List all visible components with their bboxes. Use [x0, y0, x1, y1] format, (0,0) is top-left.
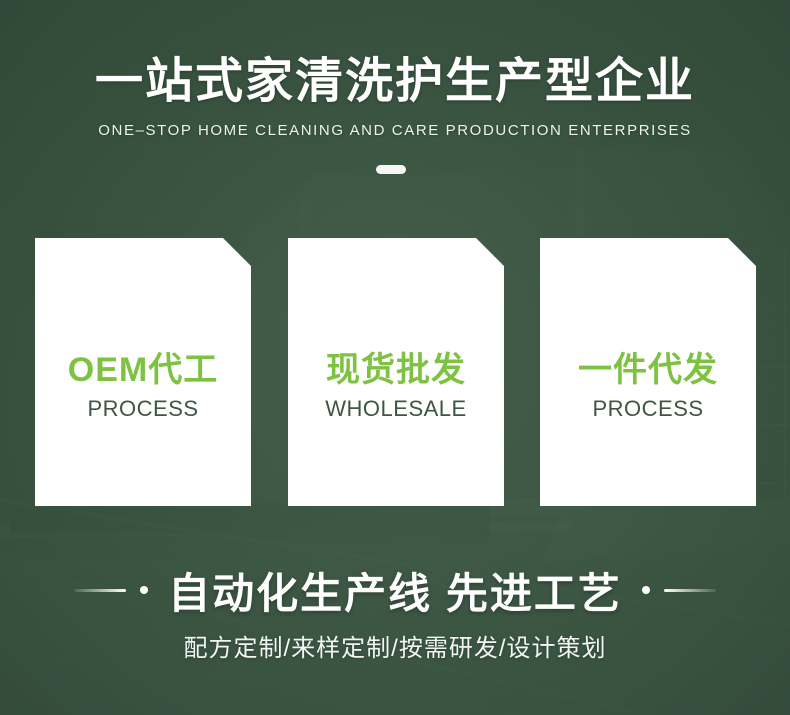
service-card-dropship[interactable]: 一件代发 PROCESS [540, 238, 756, 506]
dot-right-icon [642, 586, 650, 594]
dot-left-icon [140, 586, 148, 594]
service-card-wholesale[interactable]: 现货批发 WHOLESALE [288, 238, 504, 506]
footer-title: 自动化生产线 先进工艺 [162, 560, 628, 621]
service-card-subtitle: PROCESS [540, 396, 756, 422]
footer-heading-row: 自动化生产线 先进工艺 [0, 560, 790, 620]
hero-subtitle: ONE–STOP HOME CLEANING AND CARE PRODUCTI… [0, 122, 790, 139]
dash-right-icon [664, 589, 716, 592]
hero-title: 一站式家清洗护生产型企业 [0, 58, 790, 106]
service-card-subtitle: WHOLESALE [288, 396, 504, 422]
service-card-title: 一件代发 [540, 342, 756, 391]
footer-subtitle: 配方定制/来样定制/按需研发/设计策划 [0, 628, 790, 663]
service-card-title: OEM代工 [35, 342, 251, 391]
service-card-subtitle: PROCESS [35, 396, 251, 422]
service-card-title: 现货批发 [288, 342, 504, 391]
dash-left-icon [74, 589, 126, 592]
pill-divider-icon [376, 165, 406, 174]
service-card-oem[interactable]: OEM代工 PROCESS [35, 238, 251, 506]
banner-content: 一站式家清洗护生产型企业 ONE–STOP HOME CLEANING AND … [0, 0, 790, 715]
